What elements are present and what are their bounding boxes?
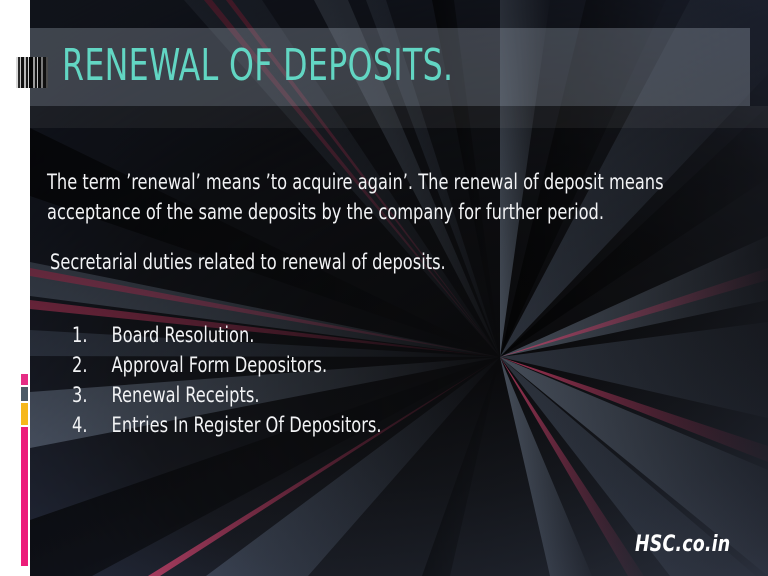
body-paragraph-2: Secretarial duties related to renewal of… bbox=[50, 247, 652, 277]
list-item-label: Renewal Receipts. bbox=[112, 380, 260, 410]
slide-canvas: RENEWAL OF DEPOSITS. The term ’renewal’ … bbox=[0, 0, 768, 576]
pink-swatch bbox=[21, 374, 28, 385]
list-item: 3.Renewal Receipts. bbox=[72, 380, 674, 410]
slate-swatch bbox=[21, 387, 28, 401]
list-item-label: Entries In Register Of Depositors. bbox=[112, 410, 382, 440]
title-band-shade bbox=[30, 106, 768, 128]
accent-strip bbox=[21, 374, 28, 566]
page-title: RENEWAL OF DEPOSITS. bbox=[62, 40, 614, 92]
barcode-bar-14 bbox=[46, 57, 48, 88]
body-paragraph-1: The term ’renewal’ means ’to acquire aga… bbox=[47, 167, 748, 227]
magenta-bar bbox=[21, 427, 28, 566]
list-item: 1.Board Resolution. bbox=[72, 320, 674, 350]
secretarial-duties-list: 1.Board Resolution.2.Approval Form Depos… bbox=[72, 320, 674, 440]
site-logo: HSC.co.in bbox=[635, 532, 730, 558]
list-item-label: Board Resolution. bbox=[112, 320, 255, 350]
barcode-icon bbox=[16, 57, 48, 88]
list-item: 4.Entries In Register Of Depositors. bbox=[72, 410, 674, 440]
list-item-number: 2. bbox=[72, 350, 112, 380]
list-item: 2.Approval Form Depositors. bbox=[72, 350, 674, 380]
list-item-label: Approval Form Depositors. bbox=[112, 350, 328, 380]
amber-swatch bbox=[21, 403, 28, 425]
list-item-number: 3. bbox=[72, 380, 112, 410]
list-item-number: 1. bbox=[72, 320, 112, 350]
list-item-number: 4. bbox=[72, 410, 112, 440]
